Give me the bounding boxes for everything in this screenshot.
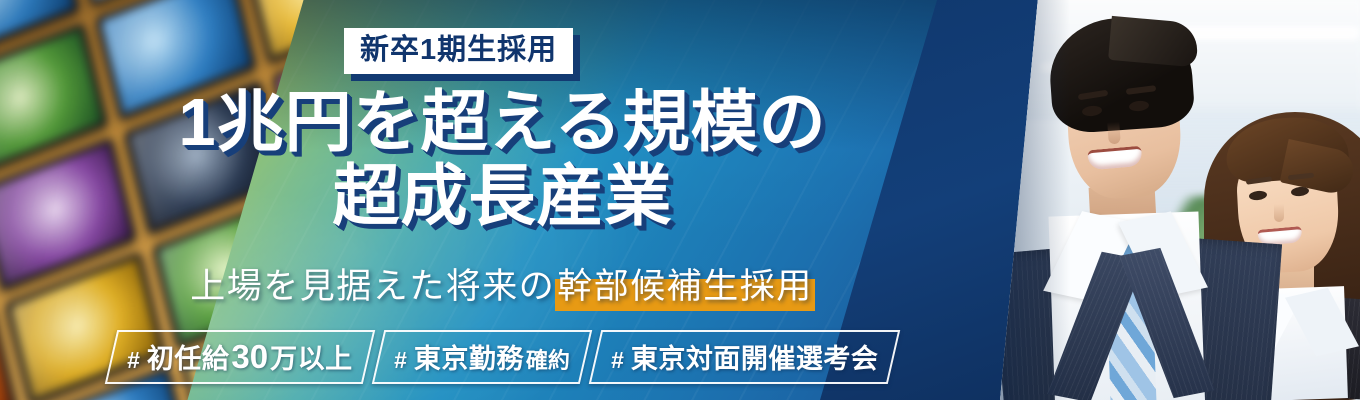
chip-text-part1: 東京勤務 [414, 337, 524, 376]
headline-line-1: 1兆円を超える規模の [0, 86, 1005, 160]
hash-icon: # [127, 347, 140, 374]
subtitle: 上場を見据えた将来の幹部候補生採用 [0, 258, 1005, 309]
chip-text-amount: 30 [232, 338, 269, 376]
chip-text-part1: 東京対面開催選考会 [630, 337, 878, 376]
headline-line-2: 超成長産業 [0, 160, 1005, 234]
chip-text-part2: 確約 [526, 343, 570, 375]
hash-icon: # [611, 347, 624, 374]
chip-text-part1: 初任給 [147, 337, 230, 376]
hash-icon: # [394, 347, 407, 374]
subtitle-highlight: 幹部候補生採用 [555, 258, 815, 309]
hashtag-chip-salary: #初任給30万以上 [105, 330, 375, 384]
subtitle-lead: 上場を見据えた将来の [190, 267, 555, 306]
headline: 1兆円を超える規模の 超成長産業 [0, 86, 1005, 235]
hashtag-chip-tokyo-work: #東京勤務確約 [371, 330, 591, 384]
recruitment-banner: 新卒1期生採用 1兆円を超える規模の 超成長産業 上場を見据えた将来の幹部候補生… [0, 0, 1360, 400]
recruitment-type-badge: 新卒1期生採用 [344, 28, 573, 74]
banner-content: 新卒1期生採用 1兆円を超える規模の 超成長産業 上場を見据えた将来の幹部候補生… [0, 0, 1360, 400]
hashtag-chip-tokyo-interview: #東京対面開催選考会 [588, 330, 900, 384]
chip-text-part2: 万以上 [270, 337, 353, 376]
badge-container: 新卒1期生採用 [344, 28, 573, 74]
hashtag-chip-list: #初任給30万以上 #東京勤務確約 #東京対面開催選考会 [0, 330, 1005, 384]
